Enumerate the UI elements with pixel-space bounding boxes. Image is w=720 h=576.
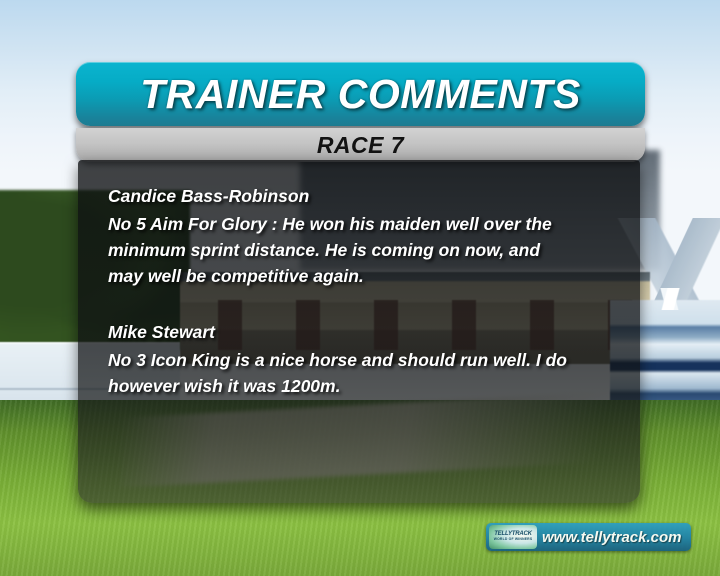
trainer-name: Candice Bass-Robinson bbox=[108, 184, 614, 209]
race-bar: RACE 7 bbox=[76, 128, 645, 162]
tellytrack-watermark: TELLYTRACK WORLD OF WINNERS www.tellytra… bbox=[486, 523, 691, 551]
page-title: TRAINER COMMENTS bbox=[140, 71, 581, 118]
website-url: www.tellytrack.com bbox=[542, 529, 682, 546]
trainer-comment: No 3 Icon King is a nice horse and shoul… bbox=[108, 348, 578, 399]
race-label: RACE 7 bbox=[317, 132, 404, 159]
trainer-comment: No 5 Aim For Glory : He won his maiden w… bbox=[108, 212, 578, 289]
broadcast-graphic-screen: TRAINER COMMENTS RACE 7 Candice Bass-Rob… bbox=[0, 0, 720, 576]
comments-panel: Candice Bass-Robinson No 5 Aim For Glory… bbox=[78, 160, 640, 503]
tellytrack-logo-icon: TELLYTRACK WORLD OF WINNERS bbox=[489, 525, 537, 549]
comment-entry: Candice Bass-Robinson No 5 Aim For Glory… bbox=[108, 184, 614, 290]
trainer-name: Mike Stewart bbox=[108, 320, 614, 345]
comment-separator bbox=[108, 290, 614, 320]
title-bar: TRAINER COMMENTS bbox=[76, 62, 645, 126]
comment-entry: Mike Stewart No 3 Icon King is a nice ho… bbox=[108, 320, 614, 400]
logo-tagline: WORLD OF WINNERS bbox=[494, 537, 533, 542]
